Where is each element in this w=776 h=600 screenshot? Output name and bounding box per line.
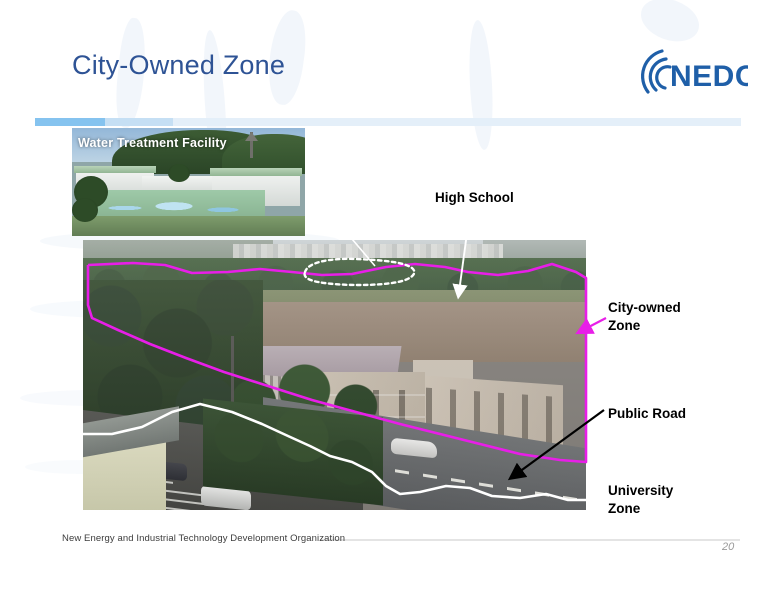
page-title: City-Owned Zone — [72, 50, 285, 81]
photo-shrub-island — [203, 399, 383, 506]
page-number: 20 — [722, 541, 734, 553]
annotation-university-zone: University Zone — [608, 482, 673, 518]
inset-photo-caption: Water Treatment Facility — [78, 136, 227, 150]
nedo-logo-text: NEDO — [670, 60, 748, 93]
annotation-line-2: Zone — [608, 500, 673, 518]
annotation-line-1: City-owned — [608, 299, 681, 317]
main-aerial-photo — [83, 240, 586, 510]
nedo-logo: NEDO — [622, 44, 748, 102]
inset-building-roof — [210, 168, 302, 176]
inset-building-roof — [74, 166, 156, 173]
annotation-line-2: Zone — [608, 317, 681, 335]
footer-organization: New Energy and Industrial Technology Dev… — [62, 533, 345, 544]
annotation-public-road: Public Road — [608, 405, 686, 423]
watermark-stroke — [467, 20, 496, 151]
slide-canvas: City-Owned Zone NEDO — [0, 0, 776, 600]
annotation-line-1: University — [608, 482, 673, 500]
accent-segment-1 — [35, 118, 105, 126]
annotation-high-school: High School — [435, 189, 514, 207]
accent-segment-3 — [173, 118, 741, 126]
city-owned-leader-line — [583, 318, 606, 330]
inset-antenna-tower — [250, 132, 253, 158]
watermark-stroke — [635, 0, 705, 49]
inset-tree — [168, 164, 190, 182]
inset-ground — [72, 216, 305, 236]
inset-tree — [72, 198, 98, 222]
nedo-logo-mark: NEDO — [622, 44, 748, 102]
accent-segment-2 — [105, 118, 173, 126]
annotation-city-owned-zone: City-owned Zone — [608, 299, 681, 335]
header-accent-band — [35, 118, 741, 126]
